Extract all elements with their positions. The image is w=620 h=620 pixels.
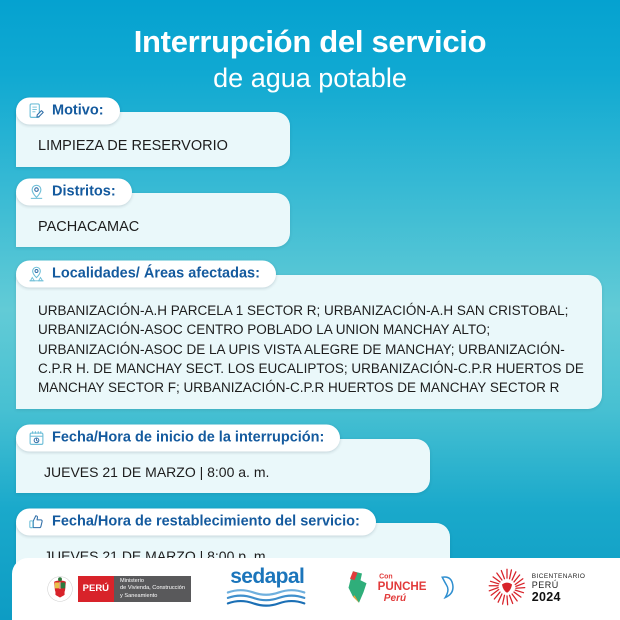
section-motivo: Motivo: LIMPIEZA DE RESERVORIO: [0, 112, 620, 167]
value-distritos: PACHACAMAC: [38, 217, 276, 238]
label-pill-distritos: Distritos:: [16, 178, 132, 205]
svg-text:Con: Con: [379, 573, 393, 580]
service-interruption-poster: Interrupción del servicio de agua potabl…: [0, 0, 620, 620]
logo-ministerio-vivienda: PERÚ Ministerio de Vivienda, Construcció…: [47, 576, 191, 602]
calendar-icon: [28, 429, 45, 446]
label-text-distritos: Distritos:: [52, 184, 116, 199]
bicentenario-text: BICENTENARIO PERÚ 2024: [532, 574, 586, 603]
label-text-motivo: Motivo:: [52, 104, 104, 119]
label-pill-localidades: Localidades/ Áreas afectadas:: [16, 261, 276, 288]
label-pill-fecha-inicio: Fecha/Hora de inicio de la interrupción:: [16, 424, 340, 451]
value-localidades: URBANIZACIÓN-A.H PARCELA 1 SECTOR R; URB…: [38, 301, 588, 397]
label-pill-motivo: Motivo:: [16, 98, 120, 125]
note-edit-icon: [28, 103, 45, 120]
panel-motivo: Motivo: LIMPIEZA DE RESERVORIO: [16, 112, 290, 167]
bicentenario-line-3: 2024: [532, 591, 586, 604]
label-pill-fecha-restablecimiento: Fecha/Hora de restablecimiento del servi…: [16, 508, 376, 535]
peru-map-icon: [344, 569, 374, 610]
map-pin-area-icon: [28, 266, 45, 283]
panel-distritos: Distritos: PACHACAMAC: [16, 193, 290, 248]
label-text-localidades: Localidades/ Áreas afectadas:: [52, 267, 260, 282]
label-text-fecha-restablecimiento: Fecha/Hora de restablecimiento del servi…: [52, 515, 360, 530]
punche-wordmark: Con PUNCHE Perú: [376, 570, 438, 609]
value-motivo: LIMPIEZA DE RESERVORIO: [38, 136, 276, 157]
value-fecha-inicio: JUEVES 21 DE MARZO | 8:00 a. m.: [38, 463, 416, 483]
panel-localidades: Localidades/ Áreas afectadas: URBANIZACI…: [16, 275, 602, 409]
section-localidades: Localidades/ Áreas afectadas: URBANIZACI…: [0, 275, 620, 409]
peru-wordmark: PERÚ: [78, 576, 114, 602]
poster-header: Interrupción del servicio de agua potabl…: [0, 0, 620, 94]
page-title: Interrupción del servicio: [0, 24, 620, 60]
page-subtitle: de agua potable: [0, 62, 620, 94]
sedapal-waves-icon: [224, 587, 310, 612]
ministry-line-1: Ministerio: [120, 578, 185, 585]
ministry-name: Ministerio de Vivienda, Construcción y S…: [114, 576, 191, 602]
logo-con-punche-peru: Con PUNCHE Perú: [344, 569, 455, 610]
section-fecha-inicio: Fecha/Hora de inicio de la interrupción:…: [0, 439, 620, 493]
logo-bicentenario-peru: BICENTENARIO PERÚ 2024: [488, 568, 586, 611]
bicentenario-burst-icon: [488, 568, 526, 611]
location-pin-icon: [28, 183, 45, 200]
svg-text:Perú: Perú: [383, 592, 405, 603]
thumbs-up-icon: [28, 513, 45, 530]
label-text-fecha-inicio: Fecha/Hora de inicio de la interrupción:: [52, 431, 324, 446]
section-distritos: Distritos: PACHACAMAC: [0, 193, 620, 248]
footer-logos: PERÚ Ministerio de Vivienda, Construcció…: [12, 558, 620, 620]
punche-speech-bubble-icon: [440, 573, 455, 606]
panel-fecha-inicio: Fecha/Hora de inicio de la interrupción:…: [16, 439, 430, 493]
ministry-line-3: y Saneamiento: [120, 593, 185, 600]
sedapal-wordmark: sedapal: [230, 566, 304, 587]
peru-coat-of-arms-icon: [47, 576, 73, 602]
sections-container: Motivo: LIMPIEZA DE RESERVORIO Distritos…: [0, 112, 620, 577]
svg-text:PUNCHE: PUNCHE: [377, 581, 426, 593]
ministry-line-2: de Vivienda, Construcción: [120, 585, 185, 592]
logo-sedapal: sedapal: [224, 566, 310, 612]
